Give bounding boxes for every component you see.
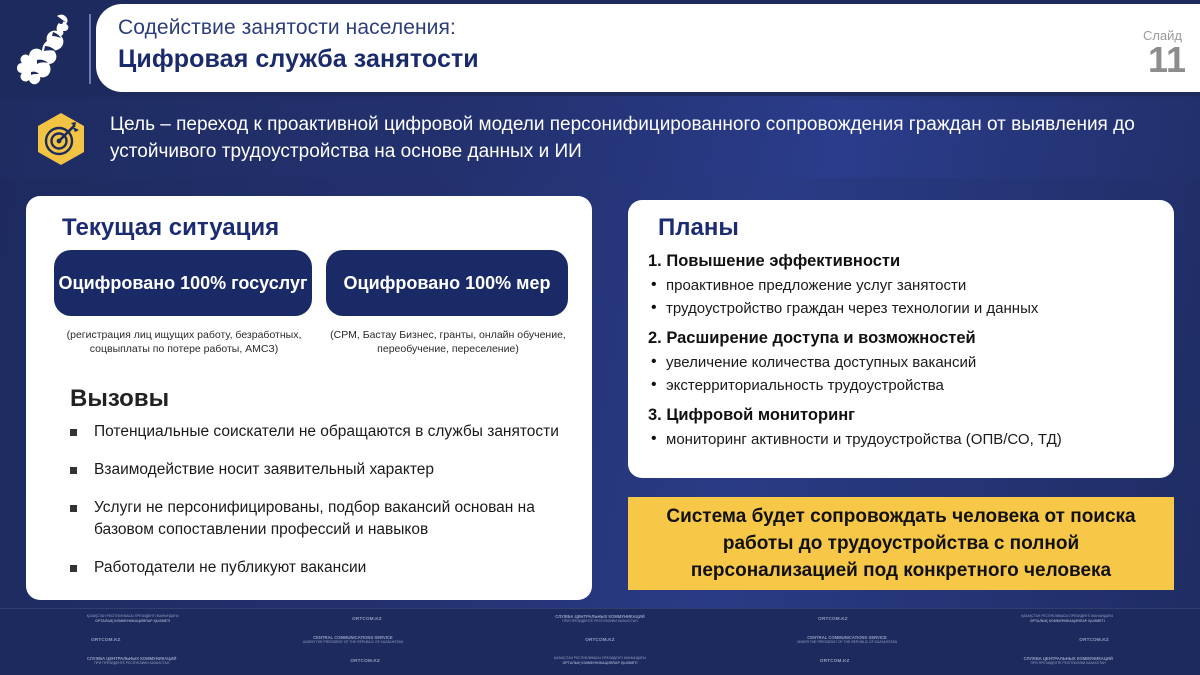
- callout-banner: Система будет сопровождать человека от п…: [628, 497, 1174, 590]
- plans-body: 1. Повышение эффективности проактивное п…: [648, 252, 1164, 460]
- watermark-en-line1: CENTRAL COMMUNICATIONS SERVICE: [313, 635, 393, 640]
- watermark-ru: СЛУЖБА ЦЕНТРАЛЬНЫХ КОММУНИКАЦИЙ ПРИ ПРЕЗ…: [87, 656, 176, 666]
- watermark-domain: ORTCOM.KZ: [352, 616, 382, 622]
- callout-text: Система будет сопровождать человека от п…: [642, 503, 1160, 584]
- challenges-title: Вызовы: [70, 385, 169, 413]
- watermark-domain: ORTCOM.KZ: [1079, 637, 1109, 643]
- plan-group-3: 3. Цифровой мониторинг мониторинг активн…: [648, 406, 1164, 451]
- goal-statement: Цель – переход к проактивной цифровой мо…: [110, 111, 1170, 165]
- goal-banner: Цель – переход к проактивной цифровой мо…: [0, 100, 1200, 178]
- watermark-ru: СЛУЖБА ЦЕНТРАЛЬНЫХ КОММУНИКАЦИЙ ПРИ ПРЕЗ…: [555, 614, 644, 624]
- watermark-domain: ORTCOM.KZ: [585, 637, 615, 643]
- page-title: Цифровая служба занятости: [118, 45, 479, 74]
- target-hexagon-icon: [34, 112, 88, 166]
- plan-group-2: 2. Расширение доступа и возможностей уве…: [648, 329, 1164, 397]
- watermark-en-line1: CENTRAL COMMUNICATIONS SERVICE: [807, 635, 887, 640]
- watermark-kk: ҚАЗАҚСТАН РЕСПУБЛИКАСЫ ПРЕЗИДЕНТІ ЖАНЫНД…: [87, 614, 179, 623]
- watermark-ru: СЛУЖБА ЦЕНТРАЛЬНЫХ КОММУНИКАЦИЙ ПРИ ПРЕЗ…: [1024, 656, 1113, 666]
- current-situation-title: Текущая ситуация: [62, 214, 279, 242]
- plan-item: мониторинг активности и трудоустройства …: [648, 428, 1164, 451]
- watermark-en: CENTRAL COMMUNICATIONS SERVICE UNDER THE…: [303, 635, 403, 645]
- watermark-en-line2: UNDER THE PRESIDENT OF THE REPUBLIC OF K…: [303, 640, 403, 644]
- watermark-en: CENTRAL COMMUNICATIONS SERVICE UNDER THE…: [797, 635, 897, 645]
- header-pretitle: Содействие занятости населения:: [118, 16, 456, 40]
- watermark-row: ORTCOM.KZ CENTRAL COMMUNICATIONS SERVICE…: [0, 635, 1200, 645]
- plan-group-heading: 3. Цифровой мониторинг: [648, 406, 1164, 425]
- watermark-domain: ORTCOM.KZ: [91, 637, 121, 643]
- plan-item: проактивное предложение услуг занятости: [648, 274, 1164, 297]
- watermark-en-line2: UNDER THE PRESIDENT OF THE REPUBLIC OF K…: [797, 640, 897, 644]
- watermark-domain: ORTCOM.KZ: [350, 658, 380, 664]
- watermark-ru-line1: СЛУЖБА ЦЕНТРАЛЬНЫХ КОММУНИКАЦИЙ: [87, 656, 176, 661]
- plan-item: экстерриториальность трудоустройства: [648, 374, 1164, 397]
- challenges-list: Потенциальные соискатели не обращаются в…: [66, 421, 576, 595]
- stat-chip-mer: Оцифровано 100% мер: [326, 250, 568, 316]
- slide-number-value: 11: [1148, 42, 1186, 78]
- header-divider: [89, 14, 91, 84]
- watermark-kk: ҚАЗАҚСТАН РЕСПУБЛИКАСЫ ПРЕЗИДЕНТІ ЖАНЫНД…: [554, 656, 646, 665]
- plan-item: трудоустройство граждан через технологии…: [648, 297, 1164, 320]
- watermark-kk-line2: ОРТАЛЫҚ КОММУНИКАЦИЯЛАР ҚЫЗМЕТІ: [562, 661, 637, 665]
- stat-chip-mer-note: (СРМ, Бастау Бизнес, гранты, онлайн обуч…: [326, 328, 570, 356]
- list-item: Работодатели не публикуют вакансии: [66, 557, 576, 579]
- list-item: Услуги не персонифицированы, подбор вака…: [66, 497, 576, 541]
- watermark-domain: ORTCOM.KZ: [820, 658, 850, 664]
- plans-card: Планы 1. Повышение эффективности проакти…: [628, 200, 1174, 478]
- footer-watermark-strip: ҚАЗАҚСТАН РЕСПУБЛИКАСЫ ПРЕЗИДЕНТІ ЖАНЫНД…: [0, 608, 1200, 675]
- watermark-domain: ORTCOM.KZ: [818, 616, 848, 622]
- plan-group-heading: 1. Повышение эффективности: [648, 252, 1164, 271]
- watermark-row: ҚАЗАҚСТАН РЕСПУБЛИКАСЫ ПРЕЗИДЕНТІ ЖАНЫНД…: [0, 614, 1200, 624]
- plan-item: увеличение количества доступных вакансий: [648, 351, 1164, 374]
- watermark-ru-line2: ПРИ ПРЕЗИДЕНТЕ РЕСПУБЛИКИ КАЗАХСТАН: [87, 661, 176, 665]
- plan-group-1: 1. Повышение эффективности проактивное п…: [648, 252, 1164, 320]
- watermark-ru-line1: СЛУЖБА ЦЕНТРАЛЬНЫХ КОММУНИКАЦИЙ: [555, 614, 644, 619]
- watermark-ru-line2: ПРИ ПРЕЗИДЕНТЕ РЕСПУБЛИКИ КАЗАХСТАН: [1024, 661, 1113, 665]
- snow-leopard-emblem-icon: [14, 8, 86, 92]
- watermark-kk: ҚАЗАҚСТАН РЕСПУБЛИКАСЫ ПРЕЗИДЕНТІ ЖАНЫНД…: [1021, 614, 1113, 623]
- watermark-ru-line1: СЛУЖБА ЦЕНТРАЛЬНЫХ КОММУНИКАЦИЙ: [1024, 656, 1113, 661]
- watermark-ru-line2: ПРИ ПРЕЗИДЕНТЕ РЕСПУБЛИКИ КАЗАХСТАН: [555, 619, 644, 623]
- stat-chip-gosuslug-note: (регистрация лиц ищущих работу, безработ…: [48, 328, 320, 356]
- slide-root: Содействие занятости населения: Цифровая…: [0, 0, 1200, 675]
- watermark-kk-line2: ОРТАЛЫҚ КОММУНИКАЦИЯЛАР ҚЫЗМЕТІ: [95, 619, 170, 623]
- stat-chip-gosuslug: Оцифровано 100% госуслуг: [54, 250, 312, 316]
- list-item: Взаимодействие носит заявительный характ…: [66, 459, 576, 481]
- header-band: Содействие занятости населения: Цифровая…: [0, 0, 1200, 96]
- plans-title: Планы: [658, 214, 739, 242]
- watermark-kk-line2: ОРТАЛЫҚ КОММУНИКАЦИЯЛАР ҚЫЗМЕТІ: [1030, 619, 1105, 623]
- plan-group-heading: 2. Расширение доступа и возможностей: [648, 329, 1164, 348]
- current-situation-card: Текущая ситуация Оцифровано 100% госуслу…: [26, 196, 592, 600]
- list-item: Потенциальные соискатели не обращаются в…: [66, 421, 576, 443]
- watermark-row: СЛУЖБА ЦЕНТРАЛЬНЫХ КОММУНИКАЦИЙ ПРИ ПРЕЗ…: [0, 656, 1200, 666]
- header-title-pill: Содействие занятости населения: Цифровая…: [96, 4, 1200, 92]
